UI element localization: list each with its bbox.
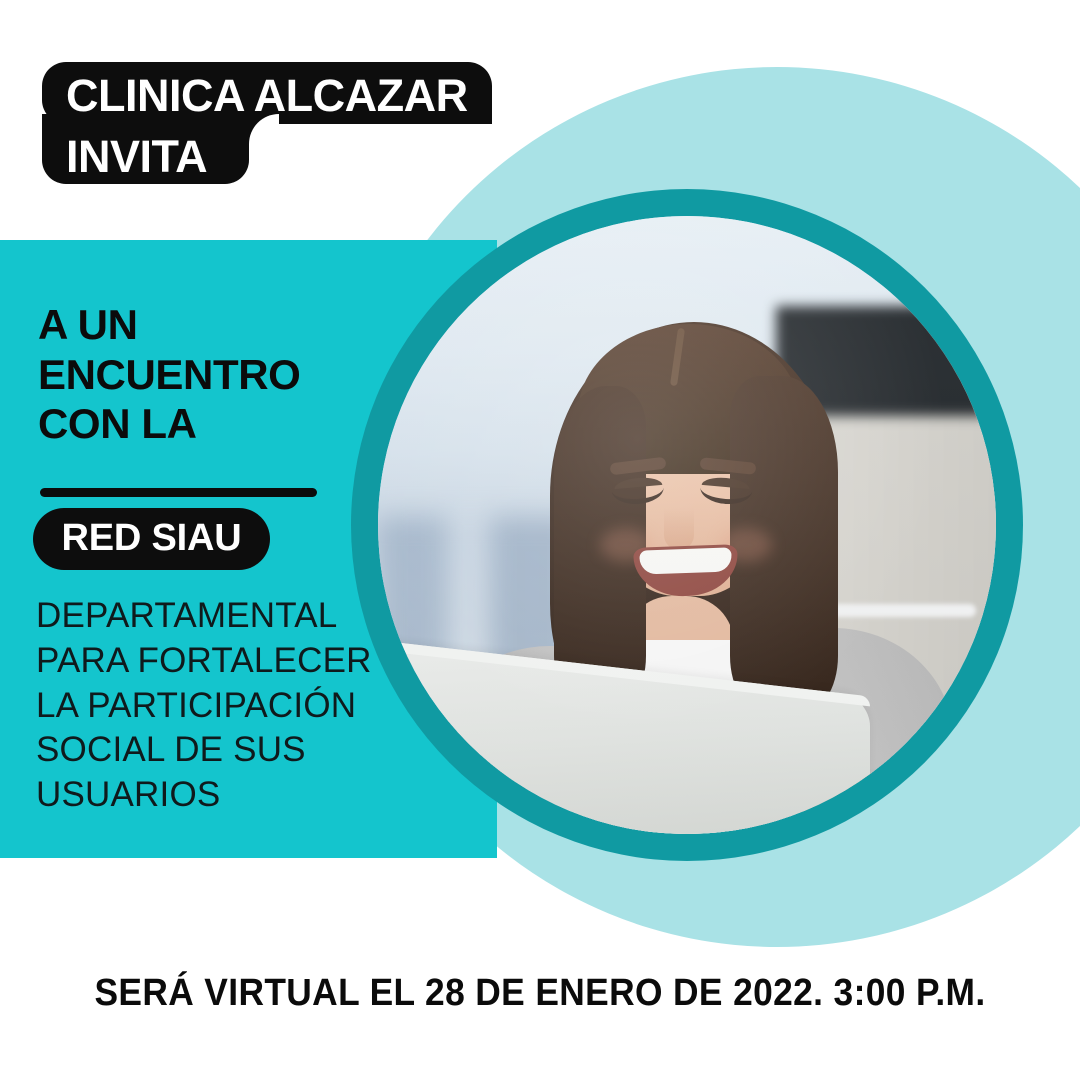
office-scene: [378, 216, 996, 834]
header-line1: CLINICA ALCAZAR: [66, 73, 468, 118]
red-siau-label: RED SIAU: [62, 519, 242, 557]
invitation-poster: CLINICA ALCAZAR INVITA A UN ENCUENTRO CO…: [0, 0, 1080, 1080]
headline-line3: CON LA: [38, 399, 378, 449]
header-bubble: CLINICA ALCAZAR INVITA: [42, 62, 492, 184]
photo-ring: [351, 189, 1023, 861]
body-copy: DEPARTAMENTAL PARA FORTALECER LA PARTICI…: [36, 594, 386, 818]
headline: A UN ENCUENTRO CON LA: [38, 300, 378, 449]
header-line2: INVITA: [66, 134, 207, 179]
photo-portrait: [378, 216, 996, 834]
teeth: [639, 547, 732, 574]
red-siau-badge: RED SIAU: [33, 508, 270, 570]
nose: [664, 508, 694, 550]
headline-line2: ENCUENTRO: [38, 350, 378, 400]
event-date-line: SERÁ VIRTUAL EL 28 DE ENERO DE 2022. 3:0…: [38, 972, 1042, 1015]
divider-rule: [40, 488, 317, 497]
headline-line1: A UN: [38, 300, 378, 350]
